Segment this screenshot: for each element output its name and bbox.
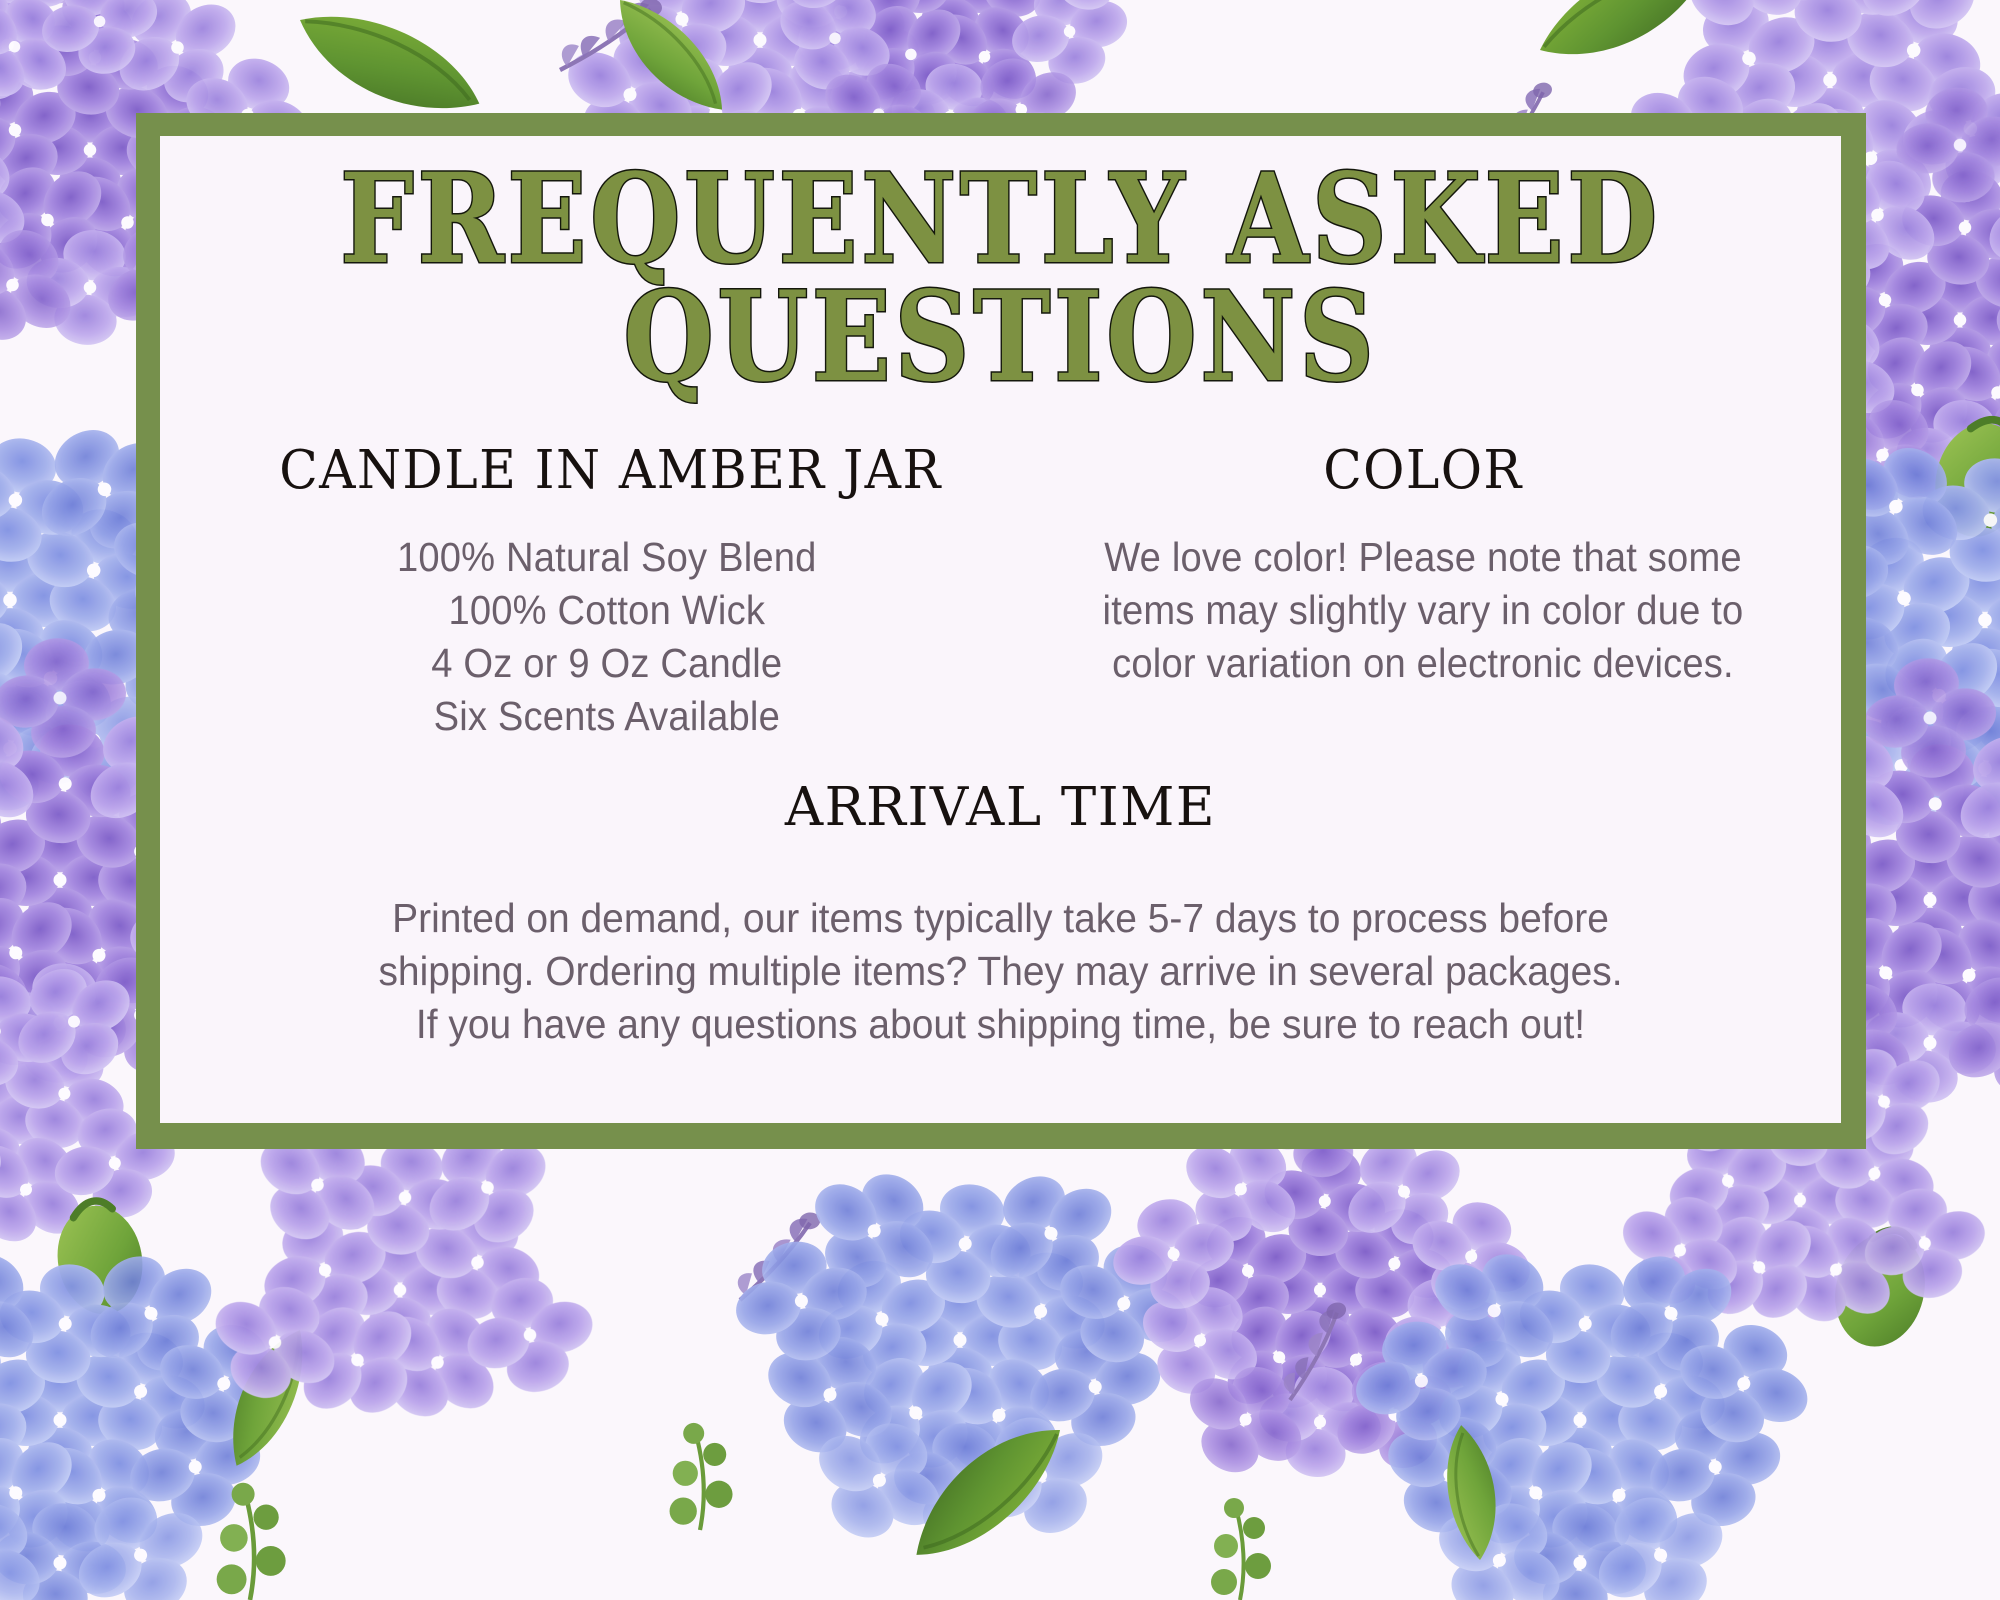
section-arrival-time: ARRIVAL TIME Printed on demand, our item… (160, 777, 1841, 1052)
page-title-line-2: QUESTIONS (219, 276, 1782, 400)
section-heading-arrival-time: ARRIVAL TIME (200, 777, 1801, 838)
color-paragraph: We love color! Please note that some ite… (1060, 531, 1785, 690)
card-frame-border: FREQUENTLY ASKED QUESTIONS CANDLE IN AMB… (136, 113, 1866, 1149)
arrival-paragraph: Printed on demand, our items typically t… (240, 892, 1761, 1052)
arrival-line: If you have any questions about shipping… (240, 998, 1761, 1051)
two-column-section: CANDLE IN AMBER JAR 100% Natural Soy Ble… (160, 440, 1841, 743)
candle-spec-line: Six Scents Available (218, 690, 1004, 743)
arrival-line: shipping. Ordering multiple items? They … (240, 945, 1761, 998)
section-candle-in-amber-jar: CANDLE IN AMBER JAR 100% Natural Soy Ble… (188, 440, 1033, 743)
section-color: COLOR We love color! Please note that so… (1033, 440, 1813, 743)
page-title-line-1: FREQUENTLY ASKED (219, 158, 1782, 282)
arrival-line: Printed on demand, our items typically t… (240, 892, 1761, 945)
section-heading-color: COLOR (1053, 440, 1794, 501)
candle-spec-line: 4 Oz or 9 Oz Candle (218, 637, 1004, 690)
faq-card-page: FREQUENTLY ASKED QUESTIONS CANDLE IN AMB… (0, 0, 2000, 1600)
page-title: FREQUENTLY ASKED QUESTIONS (160, 136, 1841, 400)
card-panel: FREQUENTLY ASKED QUESTIONS CANDLE IN AMB… (160, 136, 1841, 1123)
section-heading-candle: CANDLE IN AMBER JAR (209, 440, 1012, 501)
candle-spec-line: 100% Cotton Wick (218, 584, 1004, 637)
candle-spec-line: 100% Natural Soy Blend (218, 531, 1004, 584)
